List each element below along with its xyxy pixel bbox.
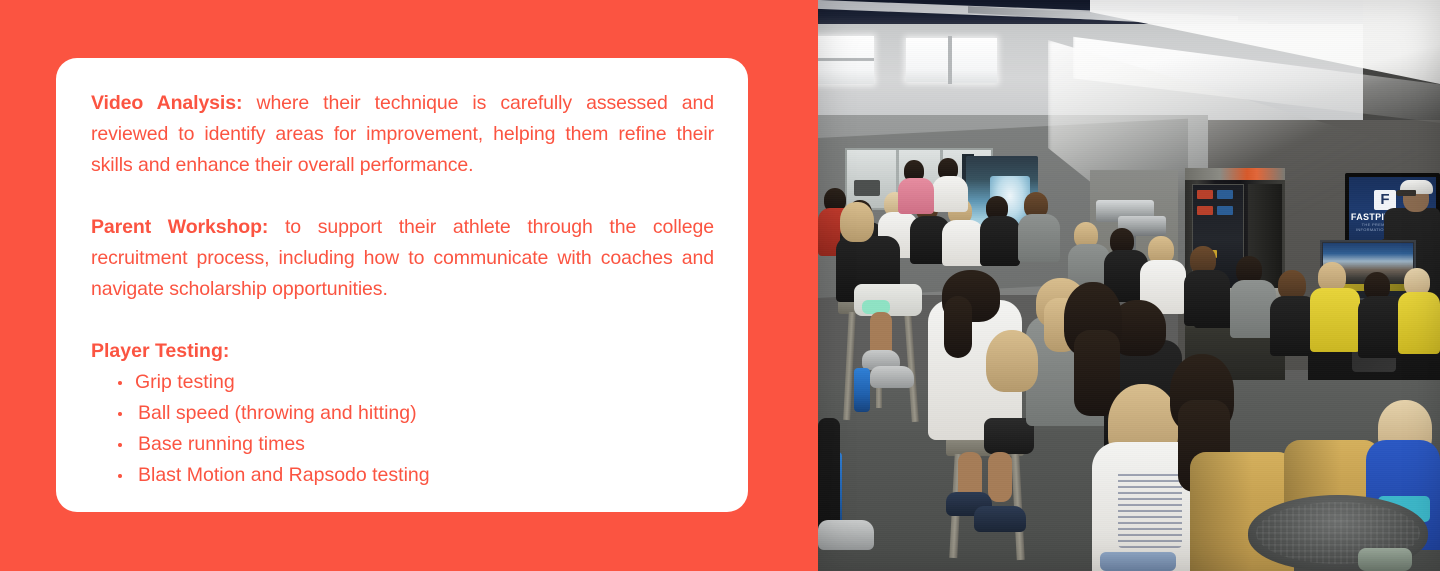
program-details-card: Video Analysis: where their technique is… bbox=[56, 58, 748, 512]
shoe bbox=[818, 520, 874, 550]
window-center-a bbox=[906, 38, 948, 82]
tv-logo-mark: F bbox=[1376, 191, 1394, 209]
denim-shorts bbox=[1100, 552, 1176, 571]
audience-body bbox=[980, 216, 1020, 266]
window-mullion bbox=[818, 58, 874, 61]
seated-athlete-hair bbox=[840, 202, 874, 242]
video-analysis-label: Video Analysis: bbox=[91, 92, 242, 114]
paragraph-spacer bbox=[91, 181, 714, 212]
seated-athlete-leg bbox=[988, 452, 1012, 502]
audience-body bbox=[942, 220, 984, 266]
vending-item bbox=[1217, 190, 1233, 199]
video-analysis-paragraph: Video Analysis: where their technique is… bbox=[91, 88, 714, 181]
window-center-b bbox=[952, 38, 997, 83]
parent-workshop-paragraph: Parent Workshop: to support their athlet… bbox=[91, 212, 714, 305]
list-item: Ball speed (throwing and hitting) bbox=[91, 398, 714, 429]
audience-body bbox=[1310, 288, 1360, 352]
list-item: Blast Motion and Rapsodo testing bbox=[91, 460, 714, 491]
vending-item bbox=[1197, 206, 1213, 215]
player-testing-title: Player Testing: bbox=[91, 336, 714, 367]
left-content-panel: Video Analysis: where their technique is… bbox=[0, 0, 818, 571]
player-testing-list: Grip testing Ball speed (throwing and hi… bbox=[91, 367, 714, 491]
vending-machine-header bbox=[1185, 168, 1285, 180]
shoe bbox=[870, 366, 914, 388]
event-photo: F FASTPITCHMEDIA THE PREMIER SOURCE FOR … bbox=[818, 0, 1440, 571]
paragraph-spacer-2 bbox=[91, 305, 714, 336]
vending-item bbox=[1197, 190, 1213, 199]
audience-body bbox=[1398, 292, 1440, 354]
list-item: Base running times bbox=[91, 429, 714, 460]
water-bottle bbox=[854, 368, 870, 412]
window-mullion bbox=[948, 36, 952, 84]
ponytail bbox=[944, 296, 972, 358]
page-root: Video Analysis: where their technique is… bbox=[0, 0, 1440, 571]
parent-workshop-label: Parent Workshop: bbox=[91, 216, 268, 238]
presenter-cap-brim bbox=[1396, 190, 1416, 196]
shoe bbox=[974, 506, 1026, 532]
audience-body bbox=[1184, 270, 1230, 326]
audience-body bbox=[898, 178, 934, 214]
audience-body bbox=[932, 176, 968, 212]
audience-body bbox=[1018, 214, 1060, 262]
vending-item bbox=[1217, 206, 1233, 215]
sandal bbox=[1358, 548, 1412, 571]
shirt-back-print bbox=[1118, 470, 1182, 548]
microwave bbox=[854, 180, 880, 196]
list-item: Grip testing bbox=[91, 367, 714, 398]
foreground-head bbox=[986, 330, 1038, 392]
